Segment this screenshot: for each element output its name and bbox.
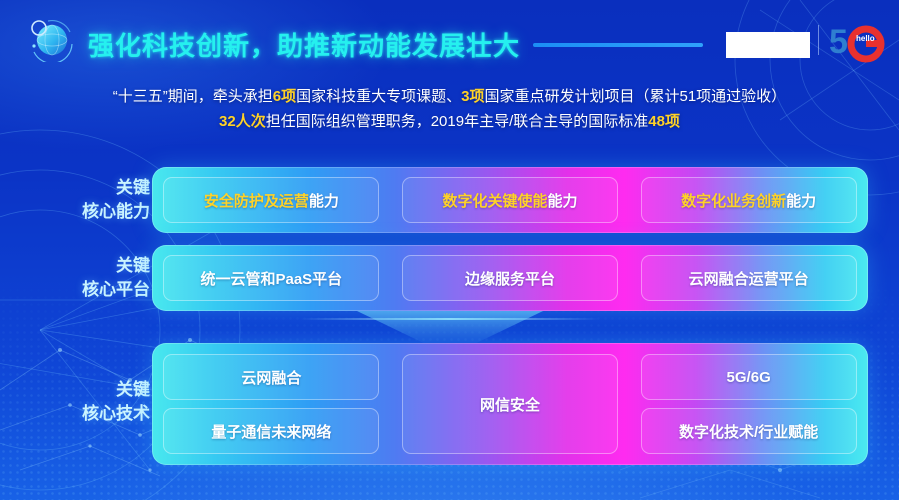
technology-chip[interactable]: 网信安全 <box>402 354 618 454</box>
technology-chip[interactable]: 5G/6G <box>641 354 857 400</box>
page-title: 强化科技创新，助推新动能发展壮大 <box>88 26 520 63</box>
technology-chip[interactable]: 量子通信未来网络 <box>163 408 379 454</box>
technology-chip[interactable]: 数字化技术/行业赋能 <box>641 408 857 454</box>
row-label-line-2: 核心技术 <box>30 402 150 426</box>
band-slot: 统一云管和PaaS平台 <box>152 245 391 311</box>
5g-logo-icon: 5 hello <box>828 21 888 63</box>
chip-label-tail: 能力 <box>547 190 577 211</box>
technologies-band: 云网融合 量子通信未来网络 网信安全 5G/6G 数字化技术/行业赋能 <box>152 343 868 465</box>
band-slot: 数字化业务创新能力 <box>629 167 868 233</box>
header: 强化科技创新，助推新动能发展壮大 5 hello <box>0 0 899 74</box>
row-label-technologies: 关键 核心技术 <box>30 378 150 426</box>
stat-seg: “十三五”期间，牵头承担 <box>113 88 273 105</box>
stat-seg: 国家重点研发计划项目（累计51项通过验收） <box>485 88 787 105</box>
tech-column-middle: 网信安全 <box>391 343 630 465</box>
row-label-capabilities: 关键 核心能力 <box>30 176 150 224</box>
tech-column-right: 5G/6G 数字化技术/行业赋能 <box>629 343 868 465</box>
band-slot: 边缘服务平台 <box>391 245 630 311</box>
chip-label-gold: 安全防护及运营 <box>204 190 309 211</box>
band-slot: 云网融合运营平台 <box>629 245 868 311</box>
row-label-line-1: 关键 <box>30 378 150 402</box>
svg-text:5: 5 <box>829 23 848 61</box>
platform-chip[interactable]: 云网融合运营平台 <box>641 255 857 301</box>
svg-text:hello: hello <box>856 34 875 43</box>
band-slot: 安全防护及运营能力 <box>152 167 391 233</box>
chip-label-tail: 能力 <box>309 190 339 211</box>
platform-chip[interactable]: 统一云管和PaaS平台 <box>163 255 379 301</box>
stat-seg: 国家科技重大专项课题、 <box>296 88 461 105</box>
stat-highlight: 6项 <box>273 88 296 105</box>
row-label-line-1: 关键 <box>30 176 150 200</box>
chip-label-gold: 数字化关键使能 <box>442 190 547 211</box>
stat-highlight: 3项 <box>461 88 484 105</box>
band-slot: 数字化关键使能能力 <box>391 167 630 233</box>
row-label-line-1: 关键 <box>30 254 150 278</box>
capability-chip[interactable]: 安全防护及运营能力 <box>163 177 379 223</box>
platforms-band: 统一云管和PaaS平台 边缘服务平台 云网融合运营平台 <box>152 245 868 311</box>
stat-highlight: 48项 <box>648 113 680 130</box>
platform-chip[interactable]: 边缘服务平台 <box>402 255 618 301</box>
stat-line-2: 32人次担任国际组织管理职务，2019年主导/联合主导的国际标准48项 <box>0 109 899 134</box>
row-label-line-2: 核心平台 <box>30 278 150 302</box>
header-separator <box>818 25 819 55</box>
row-label-line-2: 核心能力 <box>30 200 150 224</box>
stats-block: “十三五”期间，牵头承担6项国家科技重大专项课题、3项国家重点研发计划项目（累计… <box>0 84 899 134</box>
stat-line-1: “十三五”期间，牵头承担6项国家科技重大专项课题、3项国家重点研发计划项目（累计… <box>0 84 899 109</box>
title-divider-rule <box>533 43 703 47</box>
partner-logo-placeholder <box>726 32 810 58</box>
tech-column-left: 云网融合 量子通信未来网络 <box>152 343 391 465</box>
row-label-platforms: 关键 核心平台 <box>30 254 150 302</box>
stat-highlight: 32人次 <box>219 113 266 130</box>
capability-chip[interactable]: 数字化业务创新能力 <box>641 177 857 223</box>
chip-label-gold: 数字化业务创新 <box>681 190 786 211</box>
chip-label-tail: 能力 <box>786 190 816 211</box>
technology-chip[interactable]: 云网融合 <box>163 354 379 400</box>
globe-sphere-icon <box>26 18 82 62</box>
capabilities-band: 安全防护及运营能力 数字化关键使能能力 数字化业务创新能力 <box>152 167 868 233</box>
capability-chip[interactable]: 数字化关键使能能力 <box>402 177 618 223</box>
stat-seg: 担任国际组织管理职务，2019年主导/联合主导的国际标准 <box>266 113 649 130</box>
